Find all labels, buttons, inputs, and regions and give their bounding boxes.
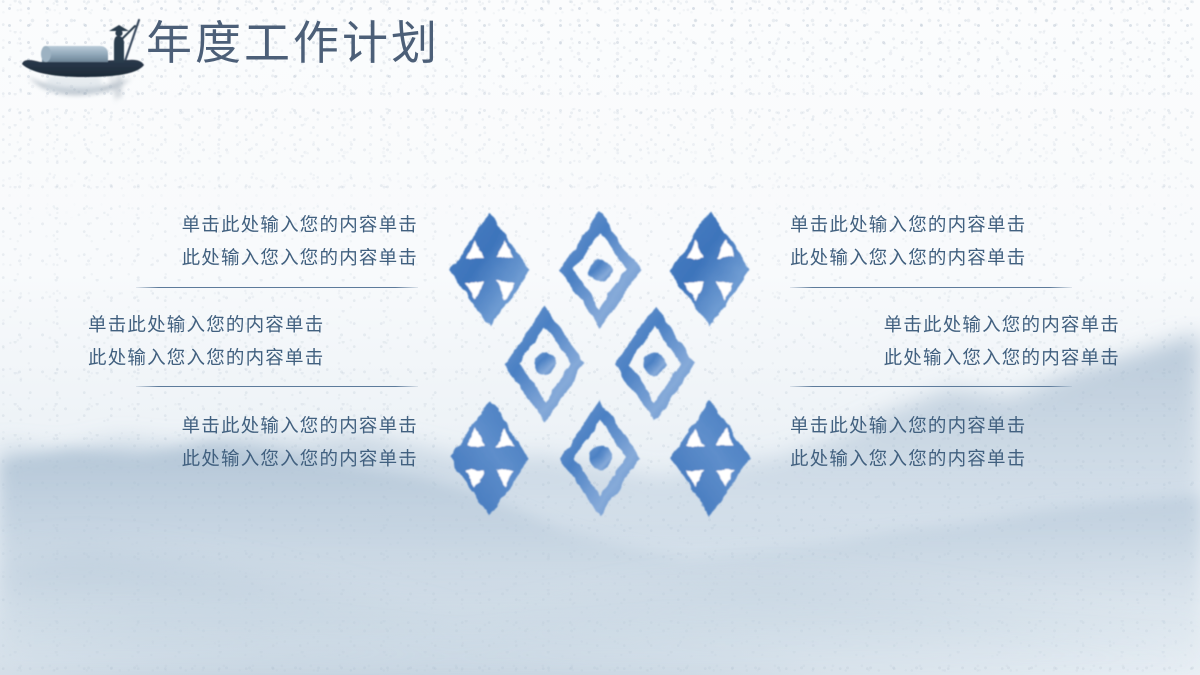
- content-block-left-1[interactable]: 单击此处输入您的内容单击 此处输入您入您的内容单击: [88, 208, 418, 288]
- content-block-right-3[interactable]: 单击此处输入您的内容单击 此处输入您入您的内容单击: [790, 387, 1120, 475]
- watercolor-diamond-motif: [432, 206, 768, 522]
- content-line-2: 此处输入您入您的内容单击: [88, 442, 418, 475]
- content-line-1: 单击此处输入您的内容单击: [790, 208, 1120, 241]
- slide-canvas: 年度工作计划: [0, 0, 1200, 675]
- content-line-1: 单击此处输入您的内容单击: [790, 308, 1120, 341]
- page-title: 年度工作计划: [146, 16, 440, 72]
- content-block-right-2[interactable]: 单击此处输入您的内容单击 此处输入您入您的内容单击: [790, 288, 1120, 387]
- content-column-right: 单击此处输入您的内容单击 此处输入您入您的内容单击 单击此处输入您的内容单击 此…: [790, 208, 1120, 475]
- content-block-left-3[interactable]: 单击此处输入您的内容单击 此处输入您入您的内容单击: [88, 387, 418, 475]
- content-column-left: 单击此处输入您的内容单击 此处输入您入您的内容单击 单击此处输入您的内容单击 此…: [88, 208, 418, 475]
- content-line-2: 此处输入您入您的内容单击: [790, 241, 1120, 274]
- content-line-2: 此处输入您入您的内容单击: [790, 442, 1120, 475]
- content-line-1: 单击此处输入您的内容单击: [88, 308, 418, 341]
- content-line-1: 单击此处输入您的内容单击: [88, 208, 418, 241]
- ink-boat-icon: [8, 4, 158, 122]
- content-line-2: 此处输入您入您的内容单击: [88, 241, 418, 274]
- slide-header: 年度工作计划: [0, 0, 1200, 120]
- content-block-right-1[interactable]: 单击此处输入您的内容单击 此处输入您入您的内容单击: [790, 208, 1120, 288]
- content-line-1: 单击此处输入您的内容单击: [790, 409, 1120, 442]
- content-line-2: 此处输入您入您的内容单击: [790, 341, 1120, 374]
- content-line-1: 单击此处输入您的内容单击: [88, 409, 418, 442]
- content-block-left-2[interactable]: 单击此处输入您的内容单击 此处输入您入您的内容单击: [88, 288, 418, 387]
- content-line-2: 此处输入您入您的内容单击: [88, 341, 418, 374]
